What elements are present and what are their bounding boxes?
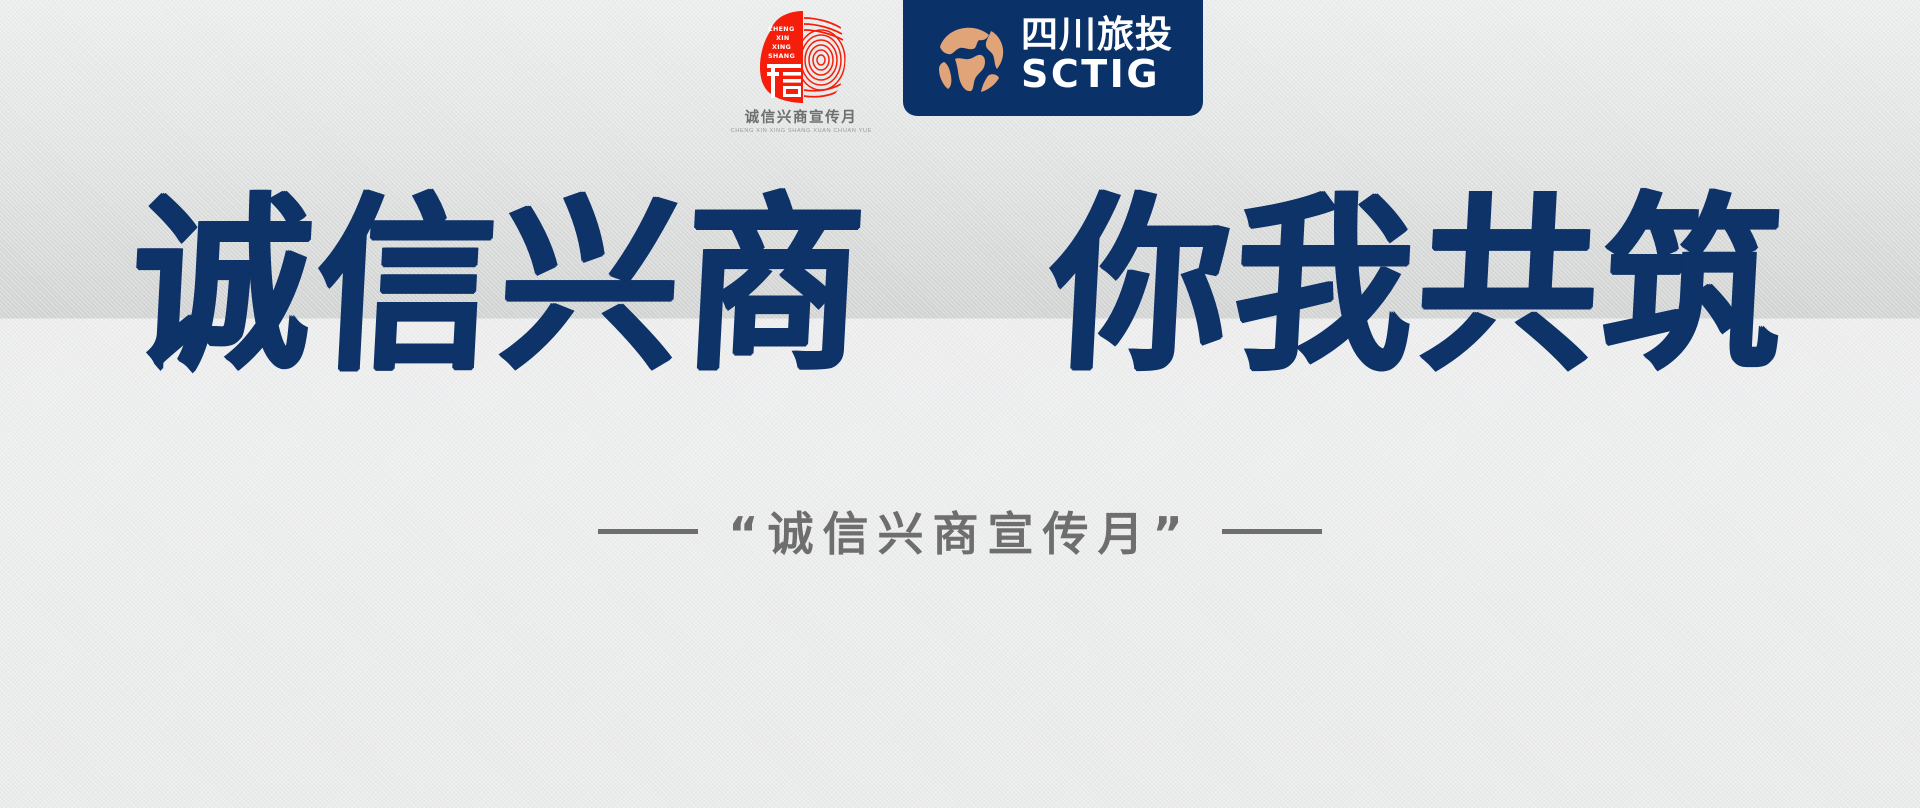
subtitle-rule-left	[598, 529, 698, 534]
headline: 诚信兴商 你我共筑	[0, 191, 1920, 380]
sctig-wordmark: 四川旅投 SCTIG	[1021, 16, 1173, 95]
sctig-logo-box: 四川旅投 SCTIG	[903, 0, 1203, 116]
seal-caption-pinyin: CHENG XIN XING SHANG XUAN CHUAN YUE	[730, 128, 871, 134]
promotional-banner: CHENG XIN XING SHANG	[0, 0, 1920, 808]
sctig-english-name: SCTIG	[1021, 55, 1160, 95]
subtitle-text: “诚信兴商宣传月”	[728, 498, 1191, 564]
subtitle-rule-right	[1222, 529, 1322, 534]
subtitle-row: “诚信兴商宣传月”	[0, 498, 1920, 564]
logo-row: CHENG XIN XING SHANG	[717, 0, 1203, 134]
headline-part-right: 你我共筑	[1045, 174, 1793, 396]
seal-caption-chinese: 诚信兴商宣传月	[745, 110, 858, 126]
sctig-chinese-name: 四川旅投	[1021, 16, 1173, 53]
svg-text:XING: XING	[772, 43, 791, 51]
svg-text:CHENG: CHENG	[768, 25, 795, 33]
seal-lockup: CHENG XIN XING SHANG	[717, 0, 885, 134]
globe-icon	[931, 17, 1007, 93]
svg-text:XIN: XIN	[776, 34, 790, 42]
svg-text:SHANG: SHANG	[768, 52, 795, 60]
headline-part-left: 诚信兴商	[127, 174, 875, 396]
chengxin-seal-icon: CHENG XIN XING SHANG	[751, 8, 851, 106]
